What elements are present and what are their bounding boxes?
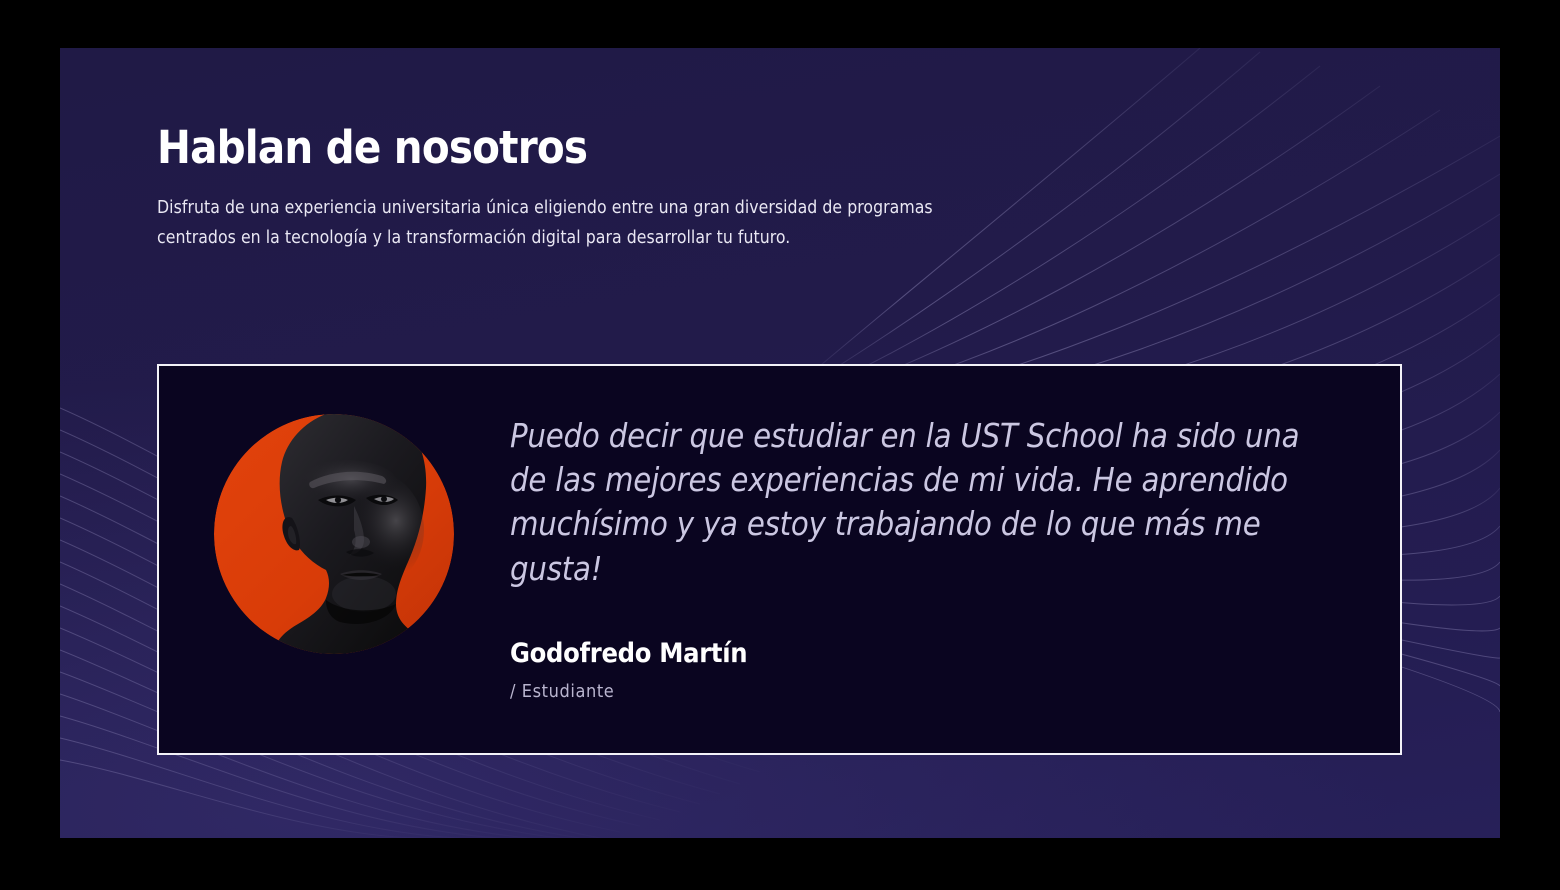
slide: Hablan de nosotros Disfruta de una exper… — [60, 48, 1500, 838]
slide-header: Hablan de nosotros Disfruta de una exper… — [157, 124, 977, 253]
quote-block: Puedo decir que estudiar en la UST Schoo… — [454, 366, 1400, 702]
testimonial-quote: Puedo decir que estudiar en la UST Schoo… — [510, 414, 1330, 591]
avatar — [214, 414, 454, 654]
testimonial-card: Puedo decir que estudiar en la UST Schoo… — [157, 364, 1402, 755]
screen: Hablan de nosotros Disfruta de una exper… — [0, 0, 1560, 890]
avatar-portrait-image — [214, 414, 454, 654]
page-title: Hablan de nosotros — [157, 124, 977, 171]
testimonial-author-name: Godofredo Martín — [510, 591, 1360, 669]
testimonial-author-role: / Estudiante — [510, 668, 1360, 702]
page-subtitle: Disfruta de una experiencia universitari… — [157, 171, 957, 253]
